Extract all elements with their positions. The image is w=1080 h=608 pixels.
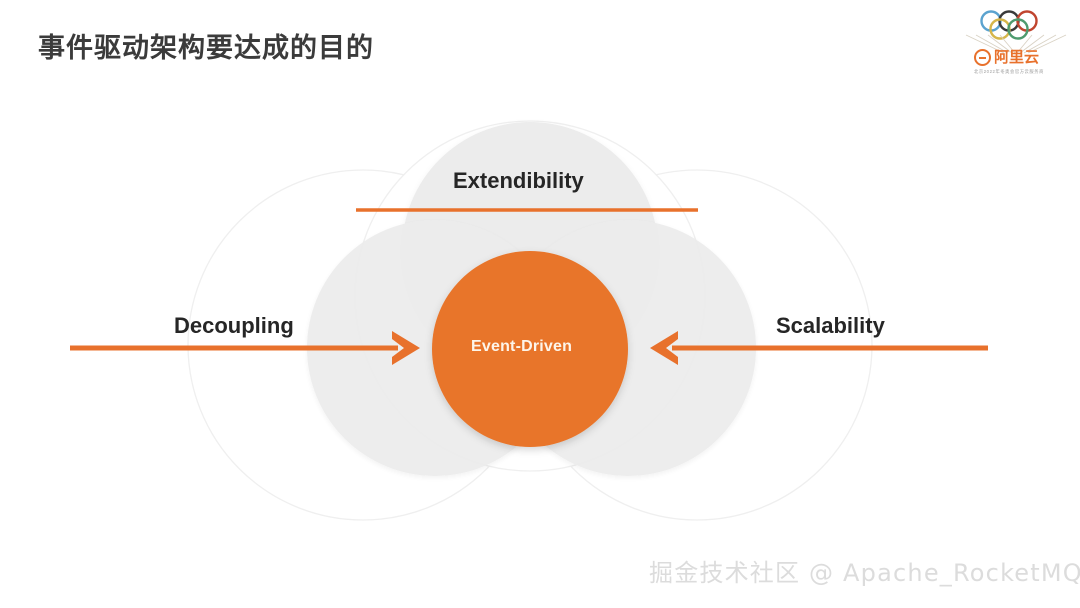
- aliyun-brand-text: 阿里云: [994, 50, 1039, 65]
- page-title: 事件驱动架构要达成的目的: [38, 26, 374, 65]
- arrow-head-right-icon: [392, 331, 420, 365]
- aliyun-mark-icon: [974, 49, 991, 66]
- lobe-label-decoupling: Decoupling: [174, 313, 294, 339]
- aliyun-logo: 阿里云: [974, 49, 1039, 66]
- lobe-label-extendibility: Extendibility: [453, 168, 584, 194]
- logo-subtitle: 北京2022年冬奥会官方云服务商: [974, 69, 1044, 75]
- outline-circle-right: [522, 170, 872, 520]
- brand-logo: 阿里云 北京2022年冬奥会官方云服务商: [964, 8, 1068, 84]
- center-circle-label: Event-Driven: [471, 338, 572, 356]
- watermark: 掘金技术社区 @ Apache_RocketMQ: [649, 553, 1080, 588]
- arrow-head-left-icon: [650, 331, 678, 365]
- lobe-label-scalability: Scalability: [776, 313, 885, 339]
- venn-diagram: [0, 0, 1080, 608]
